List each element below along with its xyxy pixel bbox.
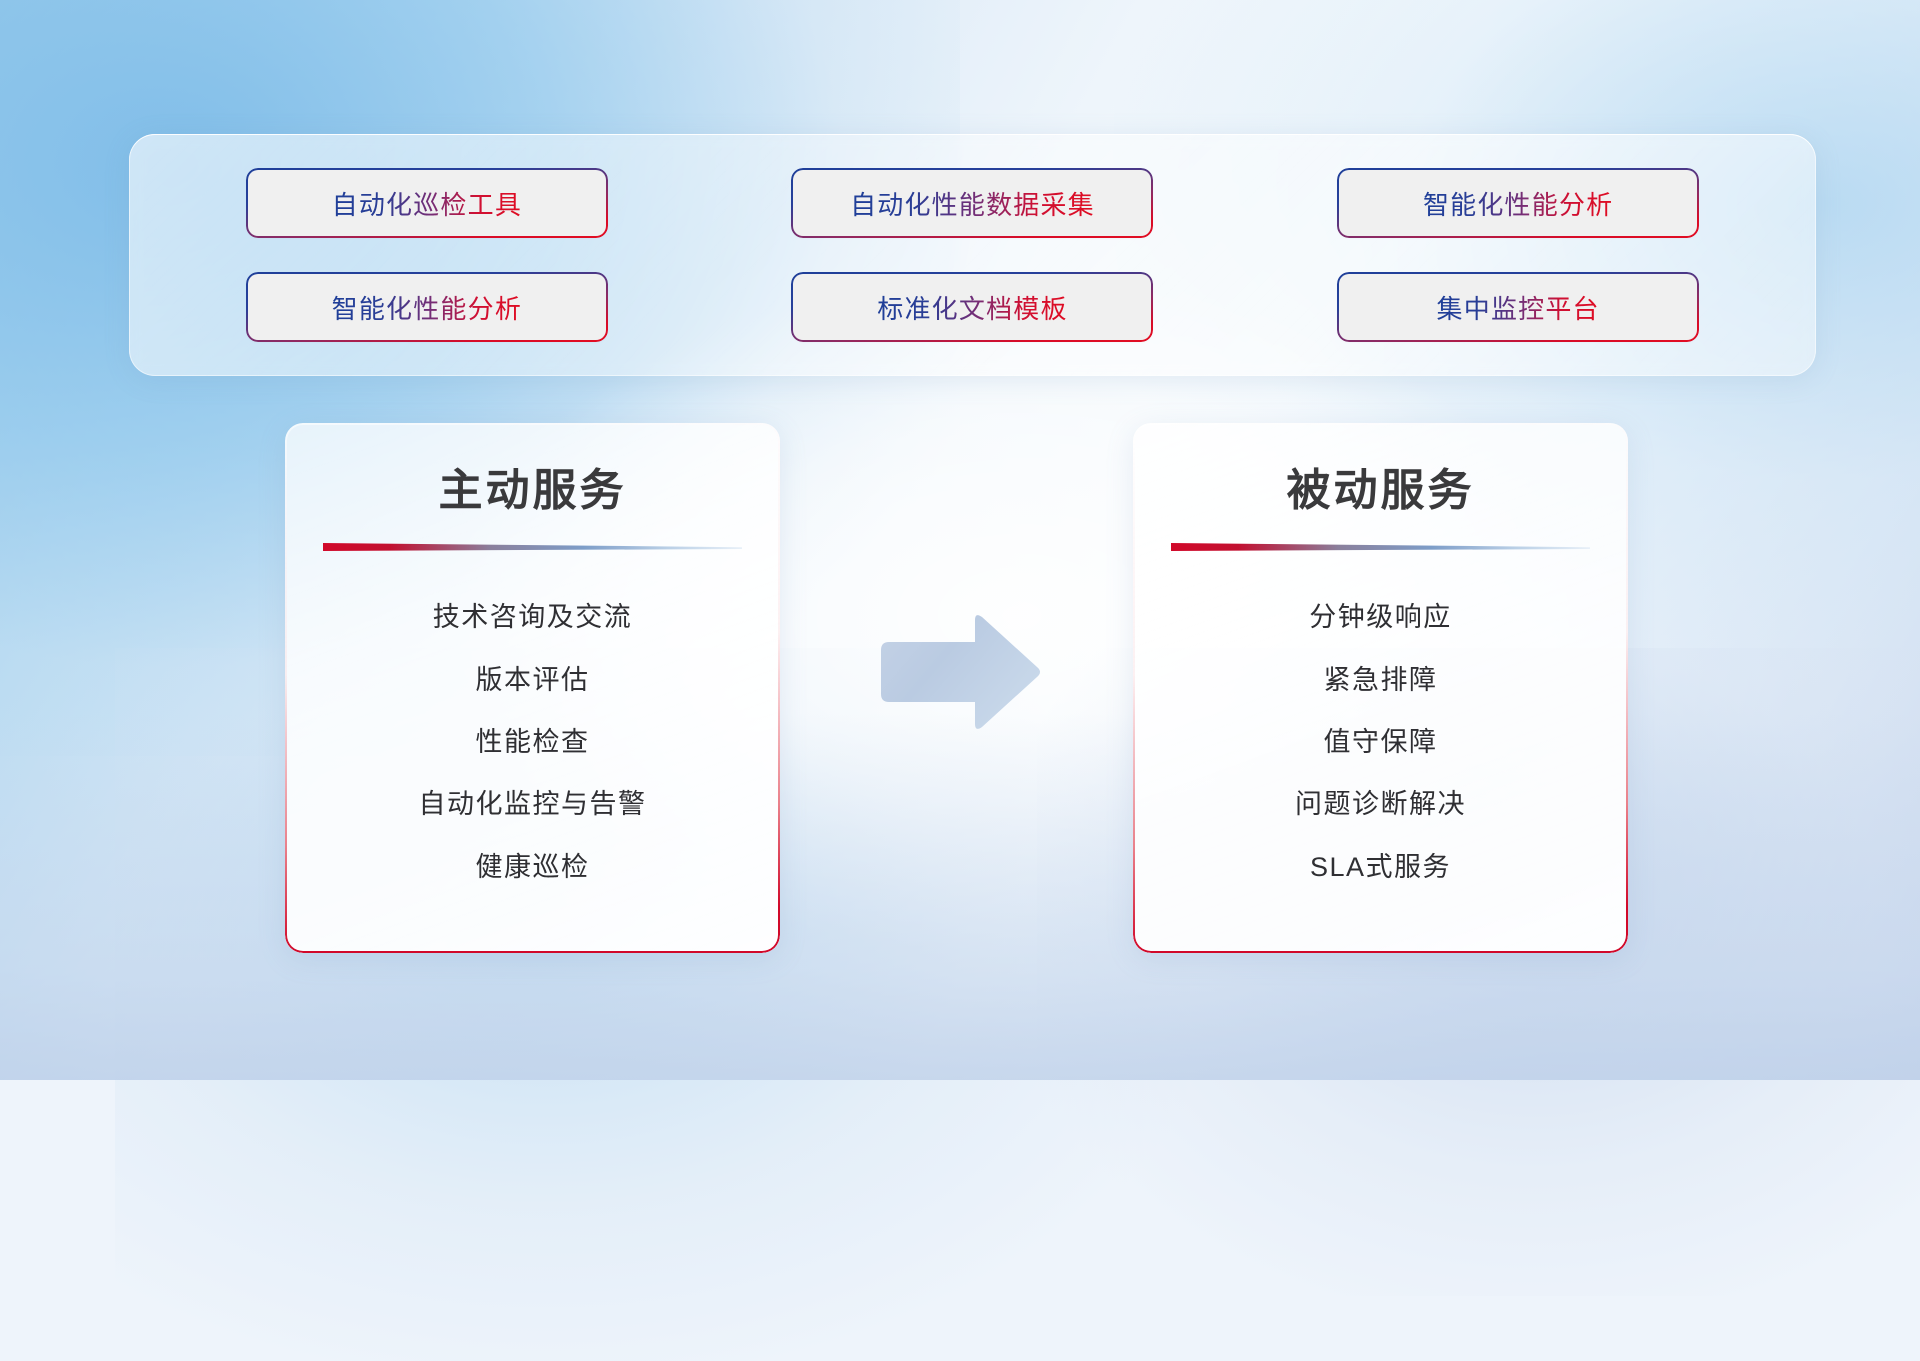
capability-tag-label: 自动化巡检工具 [332, 185, 522, 222]
service-card-passive[interactable]: 被动服务 [1133, 423, 1628, 953]
service-item: 技术咨询及交流 [319, 592, 746, 642]
capability-tag[interactable]: 集中监控平台 [1339, 274, 1697, 340]
capability-tag[interactable]: 智能化性能分析 [248, 274, 606, 340]
capability-tag-label: 标准化文档模板 [877, 289, 1067, 326]
service-item: 值守保障 [1167, 717, 1594, 767]
capability-tag-label: 智能化性能分析 [1423, 185, 1613, 222]
capability-tag-label: 智能化性能分析 [332, 289, 522, 326]
capability-tag[interactable]: 自动化巡检工具 [248, 170, 606, 236]
capability-tag-label: 集中监控平台 [1437, 289, 1600, 326]
diagram-stage: 自动化巡检工具 自动化性能数据采集 智能化性能分析 智能化性能分析 标准化文档模… [0, 0, 1920, 1080]
service-card-title: 主动服务 [319, 467, 746, 515]
service-card-title: 被动服务 [1167, 467, 1594, 515]
capability-tag[interactable]: 智能化性能分析 [1339, 170, 1697, 236]
service-item: 性能检查 [319, 717, 746, 767]
capability-tag[interactable]: 自动化性能数据采集 [793, 170, 1151, 236]
card-divider-icon [1171, 541, 1590, 553]
service-item-list: 分钟级响应 紧急排障 值守保障 问题诊断解决 SLA式服务 [1167, 557, 1594, 927]
capability-tag-grid: 自动化巡检工具 自动化性能数据采集 智能化性能分析 智能化性能分析 标准化文档模… [129, 134, 1816, 376]
capability-tag-label: 自动化性能数据采集 [850, 185, 1095, 222]
card-divider [323, 541, 742, 553]
service-item: 自动化监控与告警 [319, 779, 746, 829]
card-divider-icon [323, 541, 742, 553]
service-item: SLA式服务 [1167, 842, 1594, 892]
service-item: 版本评估 [319, 655, 746, 705]
service-item: 问题诊断解决 [1167, 779, 1594, 829]
card-divider [1171, 541, 1590, 553]
service-item: 分钟级响应 [1167, 592, 1594, 642]
service-item: 紧急排障 [1167, 655, 1594, 705]
arrow-right-icon [873, 612, 1043, 732]
service-card-active[interactable]: 主动服务 [285, 423, 780, 953]
service-item-list: 技术咨询及交流 版本评估 性能检查 自动化监控与告警 健康巡检 [319, 557, 746, 927]
service-item: 健康巡检 [319, 842, 746, 892]
capability-tag[interactable]: 标准化文档模板 [793, 274, 1151, 340]
